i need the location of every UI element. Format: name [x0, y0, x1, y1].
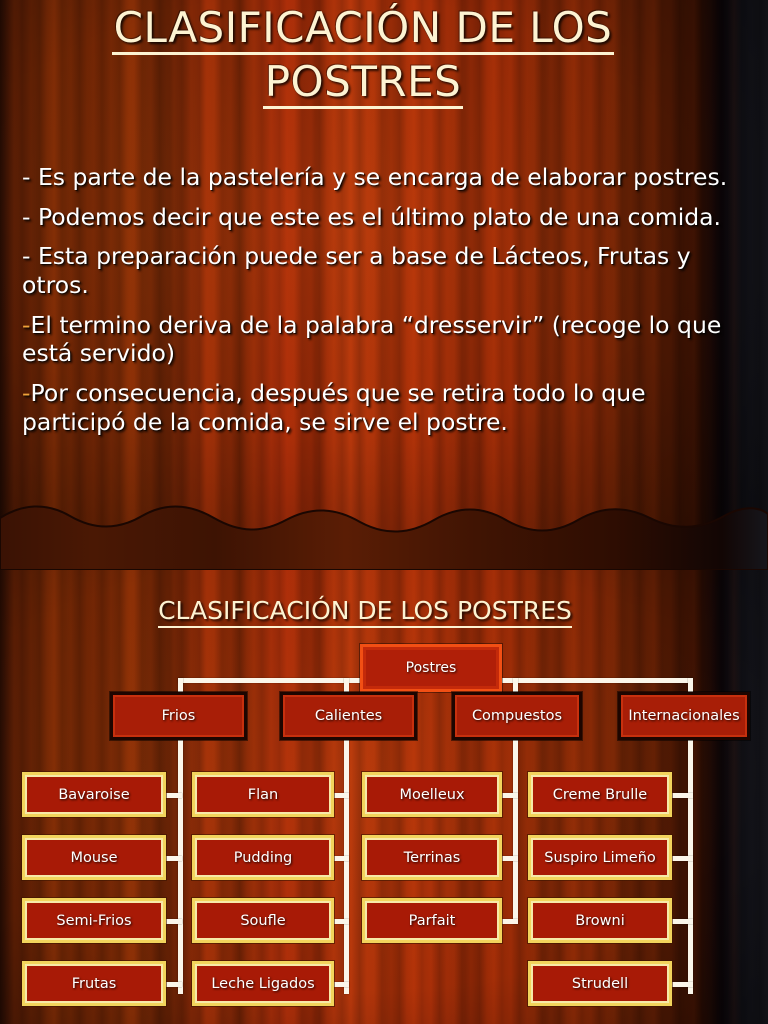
diagram-leaf-terrinas[interactable]: Terrinas: [362, 835, 502, 880]
diagram-nodes: Postres Frios Calientes Compuestos Inter…: [0, 570, 768, 1024]
title-line-2: POSTRES: [263, 60, 464, 109]
diagram-leaf-suspiro-limeno-label: Suspiro Limeño: [544, 850, 656, 866]
diagram-leaf-parfait[interactable]: Parfait: [362, 898, 502, 943]
diagram-leaf-mouse-label: Mouse: [70, 850, 117, 866]
diagram-leaf-moelleux[interactable]: Moelleux: [362, 772, 502, 817]
diagram-leaf-mouse[interactable]: Mouse: [22, 835, 166, 880]
diagram-node-root-label: Postres: [406, 660, 457, 676]
diagram-leaf-bavaroise[interactable]: Bavaroise: [22, 772, 166, 817]
diagram-leaf-flan-label: Flan: [248, 787, 278, 803]
bullet-text-4: El termino deriva de la palabra “dresser…: [22, 311, 721, 368]
slide-1-bullet-list: - Es parte de la pastelería y se encarga…: [22, 163, 734, 447]
diagram-leaf-soufle[interactable]: Soufle: [192, 898, 334, 943]
bullet-item-2: - Podemos decir que este es el último pl…: [22, 203, 734, 232]
presentation-page: CLASIFICACIÓN DE LOS POSTRES - Es parte …: [0, 0, 768, 1024]
slide-1-title: CLASIFICACIÓN DE LOS POSTRES: [0, 6, 726, 114]
diagram-node-frios-label: Frios: [162, 708, 196, 724]
diagram-leaf-moelleux-label: Moelleux: [399, 787, 464, 803]
bullet-item-1: - Es parte de la pastelería y se encarga…: [22, 163, 734, 192]
diagram-leaf-semi-frios-label: Semi-Frios: [56, 913, 131, 929]
diagram-leaf-flan[interactable]: Flan: [192, 772, 334, 817]
diagram-node-internacionales[interactable]: Internacionales: [618, 692, 750, 740]
diagram-node-root[interactable]: Postres: [360, 644, 502, 692]
bullet-text-2: Podemos decir que este es el último plat…: [30, 203, 721, 231]
diagram-leaf-frutas-label: Frutas: [72, 976, 117, 992]
diagram-leaf-semi-frios[interactable]: Semi-Frios: [22, 898, 166, 943]
diagram-node-internacionales-label: Internacionales: [628, 708, 739, 724]
slide-1-intro: CLASIFICACIÓN DE LOS POSTRES - Es parte …: [0, 0, 768, 570]
scalloped-divider-icon: [0, 500, 768, 570]
bullet-text-5: Por consecuencia, después que se retira …: [22, 379, 646, 436]
bullet-text-3: Esta preparación puede ser a base de Lác…: [22, 242, 691, 299]
diagram-node-compuestos[interactable]: Compuestos: [452, 692, 582, 740]
diagram-leaf-bavaroise-label: Bavaroise: [58, 787, 129, 803]
bullet-item-5: -Por consecuencia, después que se retira…: [22, 379, 734, 436]
diagram-node-calientes-label: Calientes: [315, 708, 382, 724]
diagram-leaf-strudell[interactable]: Strudell: [528, 961, 672, 1006]
slide-2-diagram: CLASIFICACIÓN DE LOS POSTRES: [0, 570, 768, 1024]
diagram-leaf-leche-ligados[interactable]: Leche Ligados: [192, 961, 334, 1006]
bullet-text-1: Es parte de la pastelería y se encarga d…: [30, 163, 727, 191]
bullet-item-4: -El termino deriva de la palabra “dresse…: [22, 311, 734, 368]
diagram-leaf-browni-label: Browni: [575, 913, 625, 929]
diagram-leaf-soufle-label: Soufle: [240, 913, 285, 929]
diagram-leaf-pudding[interactable]: Pudding: [192, 835, 334, 880]
diagram-leaf-browni[interactable]: Browni: [528, 898, 672, 943]
bullet-item-3: - Esta preparación puede ser a base de L…: [22, 242, 734, 299]
title-line-1: CLASIFICACIÓN DE LOS: [112, 6, 615, 55]
diagram-leaf-parfait-label: Parfait: [409, 913, 456, 929]
diagram-leaf-creme-brulle[interactable]: Creme Brulle: [528, 772, 672, 817]
diagram-node-compuestos-label: Compuestos: [472, 708, 562, 724]
diagram-leaf-creme-brulle-label: Creme Brulle: [553, 787, 647, 803]
diagram-node-frios[interactable]: Frios: [110, 692, 247, 740]
diagram-node-calientes[interactable]: Calientes: [280, 692, 417, 740]
diagram-leaf-pudding-label: Pudding: [234, 850, 293, 866]
diagram-leaf-frutas[interactable]: Frutas: [22, 961, 166, 1006]
diagram-leaf-suspiro-limeno[interactable]: Suspiro Limeño: [528, 835, 672, 880]
diagram-leaf-strudell-label: Strudell: [572, 976, 628, 992]
diagram-leaf-terrinas-label: Terrinas: [404, 850, 461, 866]
diagram-leaf-leche-ligados-label: Leche Ligados: [211, 976, 314, 992]
